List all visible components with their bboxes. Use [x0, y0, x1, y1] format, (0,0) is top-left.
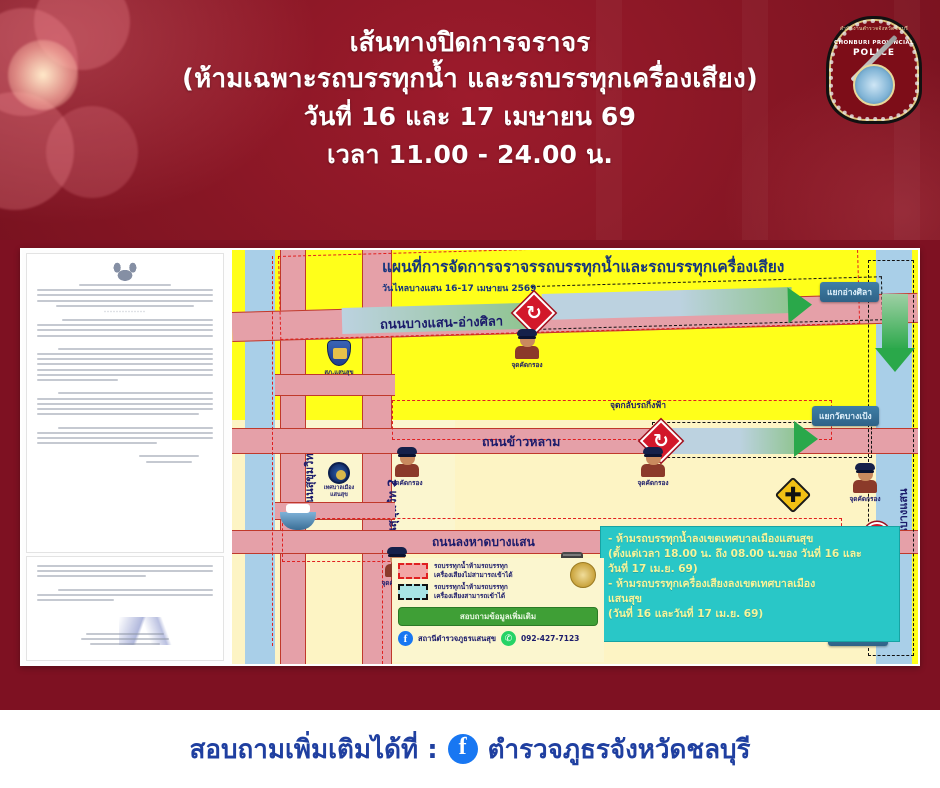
checkpoint-label: จุดคัดกรอง: [504, 360, 550, 370]
garuda-emblem-icon: [112, 260, 138, 282]
road-connector-west: [275, 374, 395, 396]
officer-cap-icon: [387, 547, 407, 554]
officer-body-icon: [395, 464, 419, 477]
official-document-pane: **************: [22, 250, 230, 664]
checkpoint-marker-east: จุดคัดกรอง: [842, 466, 888, 504]
map-subtitle-text: วันไหลบางแสน 16-17 เมษายน 2569: [382, 281, 882, 295]
officer-cap-icon: [397, 447, 417, 454]
flow-arrow-mid-band: [668, 428, 798, 454]
restricted-zone-edge-west: [272, 256, 282, 646]
flow-arrow-mid-head: [794, 421, 818, 457]
officer-body-icon: [853, 480, 877, 493]
landmark-label: สภ.แสนสุข: [316, 367, 362, 377]
info-line-3: วันที่ 17 เม.ย. 69): [608, 562, 892, 577]
checkpoint-label: จุดคัดกรอง: [630, 478, 676, 488]
restriction-info-box: - ห้ามรถบรรทุกน้ำลงเขตเทศบาลเมืองแสนสุข …: [600, 526, 900, 642]
map-legend: รถบรรทุกน้ำห้ามรถบรรทุก เครื่องเสียงไม่ส…: [392, 558, 604, 662]
officer-cap-icon: [517, 329, 537, 336]
landmark-label: เทศบาลเมืองแสนสุข: [316, 485, 362, 499]
title-line-3: วันที่ 16 และ 17 เมษายน 69: [0, 98, 940, 136]
landmark-municipality: เทศบาลเมืองแสนสุข: [316, 462, 362, 499]
document-text-lines: **************: [37, 284, 213, 466]
police-crest-logo: สำนักงานตำรวจจังหวัดชลบุรี CHONBURI PROV…: [826, 16, 922, 124]
footer-contact-bar: สอบถามเพิ่มเติมได้ที่ : f ตำรวจภูธรจังหว…: [0, 710, 940, 788]
facebook-page-name: สถานีตำรวจภูธรแสนสุข: [418, 633, 496, 645]
municipal-seal-icon: [328, 462, 350, 484]
page-title: เส้นทางปิดการจราจร (ห้ามเฉพาะรถบรรทุกน้ำ…: [0, 26, 940, 174]
phone-icon[interactable]: ✆: [501, 631, 516, 646]
document-page-1: **************: [26, 253, 224, 553]
junction-chip-watbangpeng: แยกวัดบางเป้ง: [812, 406, 879, 426]
map-title-block: แผนที่การจัดการจราจรรถบรรทุกน้ำและรถบรรท…: [382, 254, 882, 298]
info-line-4: - ห้ามรถบรรทุกเครื่องเสียงลงเขตเทศบาลเมื…: [608, 577, 892, 592]
facebook-icon[interactable]: f: [398, 631, 413, 646]
road-label-khaolam: ถนนข้าวหลาม: [482, 432, 560, 452]
road-label-beach: ถนนลงหาดบางแสน: [432, 533, 535, 552]
flow-arrow-south-head: [875, 348, 915, 372]
map-title-text: แผนที่การจัดการจราจรรถบรรทุกน้ำและรถบรรท…: [382, 254, 882, 279]
info-line-2: (ตั้งแต่เวลา 18.00 น. ถึง 08.00 น.ของ วั…: [608, 547, 892, 562]
provincial-seal-icon: [570, 562, 596, 588]
road-label-bangsaen-angsila: ถนนบางแสน-อ่างศิลา: [380, 310, 504, 334]
title-line-4: เวลา 11.00 - 24.00 น.: [0, 136, 940, 174]
officer-body-icon: [515, 346, 539, 359]
phone-number[interactable]: 092-427-7123: [521, 634, 579, 643]
landmark-police-station: สภ.แสนสุข: [316, 340, 362, 377]
checkpoint-label: จุดคัดกรอง: [384, 478, 430, 488]
footer-prompt: สอบถามเพิ่มเติมได้ที่ :: [190, 729, 438, 770]
facebook-icon[interactable]: f: [448, 734, 478, 764]
officer-cap-icon: [855, 463, 875, 470]
document-page-2: [26, 556, 224, 661]
officer-head-icon: [400, 450, 415, 465]
checkpoint-marker-north: จุดคัดกรอง: [504, 332, 550, 370]
legend-text-1a: รถบรรทุกน้ำห้ามรถบรรทุก: [434, 562, 513, 571]
legend-text-2b: เครื่องเสียงสามารถเข้าได้: [434, 592, 508, 601]
police-badge-icon: [327, 340, 351, 366]
officer-body-icon: [641, 464, 665, 477]
title-line-1: เส้นทางปิดการจราจร: [0, 26, 940, 60]
crest-emblem-icon: [853, 64, 895, 106]
checkpoint-marker-kingfa: จุดคัดกรอง: [630, 450, 676, 488]
junction-chip-angsila: แยกอ่างศิลา: [820, 282, 879, 302]
header-banner: เส้นทางปิดการจราจร (ห้ามเฉพาะรถบรรทุกน้ำ…: [0, 0, 940, 240]
officer-cap-icon: [643, 447, 663, 454]
info-line-6: (วันที่ 16 และวันที่ 17 เม.ย. 69): [608, 607, 892, 622]
infographic-card: **************: [20, 248, 920, 666]
officer-head-icon: [858, 466, 873, 481]
crest-arc-text: CHONBURI PROVINCIAL: [826, 40, 922, 46]
more-info-button[interactable]: สอบถามข้อมูลเพิ่มเติม: [398, 607, 598, 626]
u-turn-kingfa-label: จุดกลับรถกิ่งฟ้า: [610, 398, 666, 412]
officer-head-icon: [520, 332, 535, 347]
flow-arrow-south-shaft: [882, 294, 908, 350]
legend-item-allowed: รถบรรทุกน้ำห้ามรถบรรทุก เครื่องเสียงสามา…: [398, 583, 604, 600]
contact-row: f สถานีตำรวจภูธรแสนสุข ✆ 092-427-7123: [398, 631, 604, 646]
footer-page-name: ตำรวจภูธรจังหวัดชลบุรี: [488, 729, 751, 770]
crest-top-text: สำนักงานตำรวจจังหวัดชลบุรี: [826, 25, 922, 33]
traffic-map: ถนนสุขุมวิท 1 ถนนสุขุมวิท 2 ถนนบางแสน: [232, 250, 918, 664]
officer-head-icon: [646, 450, 661, 465]
legend-swatch-red: [398, 563, 428, 579]
legend-text-2a: รถบรรทุกน้ำห้ามรถบรรทุก: [434, 583, 508, 592]
info-line-1: - ห้ามรถบรรทุกน้ำลงเขตเทศบาลเมืองแสนสุข: [608, 532, 892, 547]
info-line-5: แสนสุข: [608, 592, 892, 607]
checkpoint-marker-mid: จุดคัดกรอง: [384, 450, 430, 488]
checkpoint-label: จุดคัดกรอง: [842, 494, 888, 504]
legend-swatch-cyan: [398, 584, 428, 600]
title-line-2: (ห้ามเฉพาะรถบรรทุกน้ำ และรถบรรทุกเครื่อง…: [0, 60, 940, 98]
legend-text-1b: เครื่องเสียงไม่สามารถเข้าได้: [434, 571, 513, 580]
